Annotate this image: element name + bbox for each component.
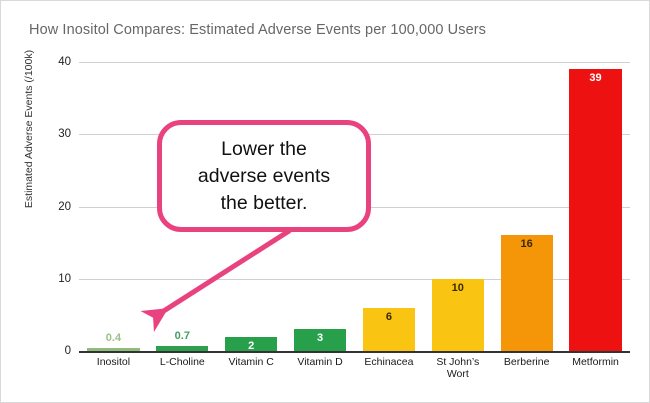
x-axis-label-line: Berberine <box>492 356 561 368</box>
y-axis-tick-label: 40 <box>45 56 71 68</box>
bar-value-label: 39 <box>569 72 621 84</box>
bar[interactable]: 16 <box>501 235 553 351</box>
bar-slot: 10 <box>423 56 492 351</box>
bar[interactable]: 39 <box>569 69 621 351</box>
x-axis-label: St John’sWort <box>423 356 492 380</box>
callout-text: Lower theadverse eventsthe better. <box>184 136 344 217</box>
y-axis-tick-label: 30 <box>45 128 71 140</box>
x-axis-line <box>79 351 630 353</box>
bar-value-label: 2 <box>225 340 277 352</box>
x-axis-category-labels: InositolL-CholineVitamin CVitamin DEchin… <box>79 356 630 400</box>
x-axis-label: Echinacea <box>355 356 424 368</box>
x-axis-label-line: Vitamin D <box>286 356 355 368</box>
y-axis-title: Estimated Adverse Events (/100k) <box>23 19 35 239</box>
y-axis-tick-label: 0 <box>45 345 71 357</box>
bar-value-label: 6 <box>363 311 415 323</box>
x-axis-label-line: Wort <box>423 368 492 380</box>
chart-title: How Inositol Compares: Estimated Adverse… <box>29 22 486 38</box>
bar[interactable]: 0.4 <box>87 348 139 351</box>
y-axis-tick-label: 20 <box>45 201 71 213</box>
callout-bubble: Lower theadverse eventsthe better. <box>157 120 371 232</box>
x-axis-label-line: Metformin <box>561 356 630 368</box>
callout-text-line: Lower the <box>198 136 330 163</box>
x-axis-label: L-Choline <box>148 356 217 368</box>
x-axis-label-line: L-Choline <box>148 356 217 368</box>
callout-text-line: adverse events <box>198 163 330 190</box>
bar-chart-figure: How Inositol Compares: Estimated Adverse… <box>0 0 650 403</box>
bar[interactable]: 10 <box>432 279 484 351</box>
bar[interactable]: 6 <box>363 308 415 351</box>
x-axis-label-line: Echinacea <box>355 356 424 368</box>
x-axis-label: Vitamin C <box>217 356 286 368</box>
bar[interactable]: 0.7 <box>156 346 208 351</box>
bar-value-label: 3 <box>294 332 346 344</box>
y-axis-tick-labels: 010203040 <box>45 1 71 403</box>
x-axis-label: Vitamin D <box>286 356 355 368</box>
y-axis-tick-label: 10 <box>45 273 71 285</box>
callout-text-line: the better. <box>198 190 330 217</box>
bar-slot: 16 <box>492 56 561 351</box>
x-axis-label: Metformin <box>561 356 630 368</box>
x-axis-label-line: Vitamin C <box>217 356 286 368</box>
bar-slot: 39 <box>561 56 630 351</box>
bar[interactable]: 3 <box>294 329 346 351</box>
x-axis-label: Inositol <box>79 356 148 368</box>
bar-value-label: 10 <box>432 282 484 294</box>
x-axis-label-line: Inositol <box>79 356 148 368</box>
x-axis-label-line: St John’s <box>423 356 492 368</box>
x-axis-label: Berberine <box>492 356 561 368</box>
bar-value-label: 16 <box>501 238 553 250</box>
